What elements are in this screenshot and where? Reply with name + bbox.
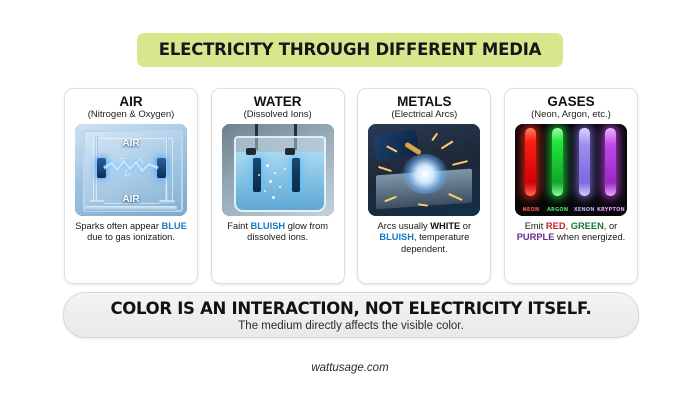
air-image-label-top: AIR — [75, 138, 187, 149]
gas-tube-label-argon: ARGON — [547, 207, 568, 213]
caption-keyword-purple: PURPLE — [517, 232, 555, 242]
caption-text: Emit — [525, 221, 546, 231]
title-section: ELECTRICITY THROUGH DIFFERENT MEDIA — [0, 33, 700, 67]
caption-keyword-blue: BLUISH — [251, 221, 286, 231]
caption-text: Sparks often appear — [75, 221, 161, 231]
caption-keyword-blue: BLUE — [162, 221, 187, 231]
gas-tube-xenon — [573, 128, 595, 200]
card-water-caption: Faint BLUISH glow from dissolved ions. — [216, 221, 340, 244]
caption-text: Faint — [227, 221, 250, 231]
caption-text: Arcs usually — [378, 221, 431, 231]
card-gases-title: GASES — [547, 94, 594, 109]
caption-keyword-white: WHITE — [430, 221, 460, 231]
card-gases-subtitle: (Neon, Argon, etc.) — [531, 109, 611, 121]
card-gases-caption: Emit RED, GREEN, or PURPLE when energize… — [509, 221, 633, 244]
discharge-tubes-illustration: NEON ARGON XENON KRYPTON — [515, 124, 627, 216]
gas-tube-krypton — [600, 128, 622, 200]
card-air-title: AIR — [119, 94, 142, 109]
conclusion-headline: COLOR IS AN INTERACTION, NOT ELECTRICITY… — [110, 299, 591, 318]
gas-tube-label-neon: NEON — [523, 207, 540, 213]
card-water-title: WATER — [254, 94, 302, 109]
card-air-caption: Sparks often appear BLUE due to gas ioni… — [69, 221, 193, 244]
card-metals-subtitle: (Electrical Arcs) — [391, 109, 457, 121]
page-title: ELECTRICITY THROUGH DIFFERENT MEDIA — [159, 40, 541, 59]
caption-keyword-green: GREEN — [571, 221, 604, 231]
electrolysis-beaker-illustration — [222, 124, 334, 216]
conclusion-banner: COLOR IS AN INTERACTION, NOT ELECTRICITY… — [63, 292, 639, 338]
title-banner: ELECTRICITY THROUGH DIFFERENT MEDIA — [137, 33, 563, 67]
gas-tube-neon — [520, 128, 542, 200]
card-air: AIR (Nitrogen & Oxygen) A — [64, 88, 198, 284]
caption-text: due to gas ionization. — [87, 232, 175, 242]
electric-arc-icon — [103, 157, 159, 179]
infographic-canvas: ELECTRICITY THROUGH DIFFERENT MEDIA AIR … — [0, 0, 700, 420]
card-air-subtitle: (Nitrogen & Oxygen) — [88, 109, 175, 121]
gas-tube-argon — [547, 128, 569, 200]
footer-watermark: wattusage.com — [0, 362, 700, 374]
conclusion-subline: The medium directly affects the visible … — [238, 320, 463, 332]
caption-text: when energized. — [554, 232, 625, 242]
caption-text: , or — [604, 221, 617, 231]
welding-arc-illustration — [368, 124, 480, 216]
card-metals-caption: Arcs usually WHITE or BLUISH, temperatur… — [362, 221, 486, 255]
gas-tube-label-krypton: KRYPTON — [597, 207, 625, 213]
card-metals: METALS (Electrical Arcs) Arcs usually WH… — [357, 88, 491, 284]
media-card-row: AIR (Nitrogen & Oxygen) A — [64, 88, 638, 284]
card-metals-title: METALS — [397, 94, 452, 109]
card-water-subtitle: (Dissolved Ions) — [244, 109, 312, 121]
caption-text: or — [460, 221, 471, 231]
caption-keyword-red: RED — [546, 221, 566, 231]
card-gases: GASES (Neon, Argon, etc.) — [504, 88, 638, 284]
card-water: WATER (Dissolved Ions) — [211, 88, 345, 284]
gas-tube-label-xenon: XENON — [574, 207, 595, 213]
caption-keyword-blue: BLUISH — [379, 232, 414, 242]
air-image-label-bottom: AIR — [75, 194, 187, 205]
spark-chamber-illustration: AIR AIR — [75, 124, 187, 216]
